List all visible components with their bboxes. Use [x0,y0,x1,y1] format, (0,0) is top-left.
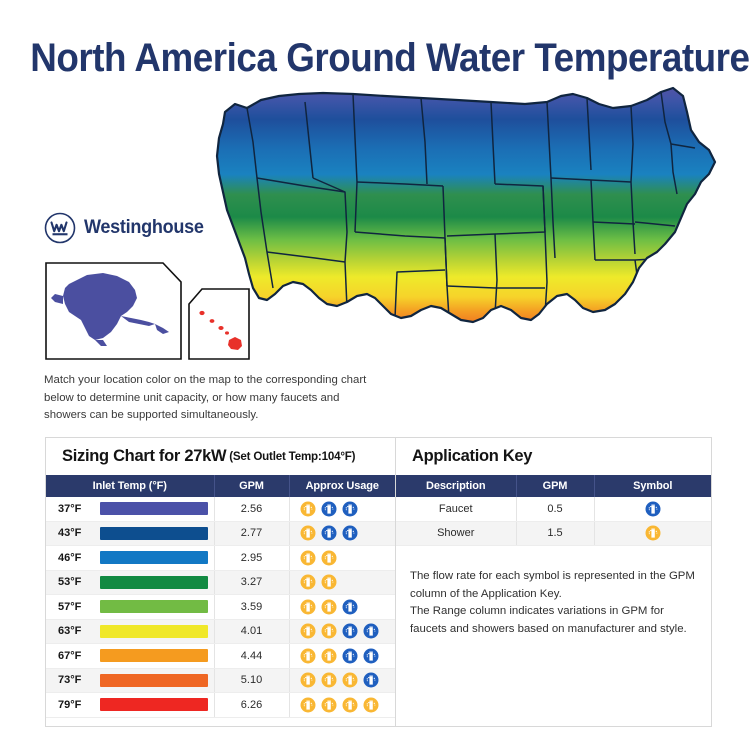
usage-icon-group [290,669,396,693]
shower-icon [321,648,337,664]
inlet-temp-cell: 63°F [46,619,214,644]
key-description-cell: Faucet [396,497,516,521]
table-row: 63°F4.01 [46,619,395,644]
shower-icon [321,623,337,639]
shower-icon [321,697,337,713]
inlet-temp-cell: 53°F [46,570,214,595]
key-description-cell: Shower [396,521,516,546]
usage-icon-group [290,522,396,546]
faucet-icon [342,599,358,615]
temperature-color-swatch [100,674,208,687]
inlet-temp-label: 37°F [58,503,90,515]
shower-icon [321,599,337,615]
temperature-color-swatch [100,576,208,589]
temperature-color-swatch [100,551,208,564]
application-key-table: Description GPM Symbol Faucet0.5Shower1.… [396,475,711,546]
table-row: 67°F4.44 [46,644,395,669]
temperature-color-swatch [100,527,208,540]
application-key-title: Application Key [396,438,711,475]
table-row: 79°F6.26 [46,693,395,718]
shower-icon [645,525,661,541]
approx-usage-cell [289,521,395,546]
sizing-chart-panel: Sizing Chart for 27kW (Set Outlet Temp:1… [46,438,396,726]
col-inlet-temp: Inlet Temp (°F) [46,475,214,497]
shower-icon [300,574,316,590]
gpm-cell: 4.01 [214,619,289,644]
map-instructions: Match your location color on the map to … [44,372,374,425]
inlet-temp-cell: 73°F [46,668,214,693]
table-row: 46°F2.95 [46,546,395,571]
gpm-cell: 5.10 [214,668,289,693]
infographic-page: North America Ground Water Temperature M… [0,0,755,755]
bottom-panels: Sizing Chart for 27kW (Set Outlet Temp:1… [45,437,712,727]
application-key-note: The flow rate for each symbol is represe… [396,546,711,638]
gpm-cell: 3.59 [214,595,289,620]
note-line: The Range column indicates variations in… [410,603,697,638]
table-row: 53°F3.27 [46,570,395,595]
approx-usage-cell [289,546,395,571]
note-line: The flow rate for each symbol is represe… [410,568,697,603]
application-key-body: Faucet0.5Shower1.5 [396,497,711,546]
temperature-color-swatch [100,649,208,662]
col-gpm: GPM [214,475,289,497]
usage-icon-group [290,497,396,521]
shower-icon [363,697,379,713]
hawaii-inset [188,288,250,360]
col-key-gpm: GPM [516,475,594,497]
table-row: 57°F3.59 [46,595,395,620]
sizing-chart-title-main: Sizing Chart for 27kW [62,447,226,466]
inlet-temp-label: 67°F [58,650,90,662]
inlet-temp-label: 63°F [58,625,90,637]
inlet-temp-label: 46°F [58,552,90,564]
table-row: 73°F5.10 [46,668,395,693]
inlet-temp-cell: 43°F [46,521,214,546]
faucet-icon [342,648,358,664]
shower-icon [300,550,316,566]
shower-icon [321,550,337,566]
inlet-temp-cell: 57°F [46,595,214,620]
approx-usage-cell [289,595,395,620]
faucet-icon [342,623,358,639]
shower-icon [300,599,316,615]
us-temperature-map [195,82,740,397]
usage-icon-group [290,620,396,644]
approx-usage-cell [289,644,395,669]
approx-usage-cell [289,497,395,521]
inlet-temp-label: 73°F [58,674,90,686]
sizing-chart-header-row: Inlet Temp (°F) GPM Approx Usage [46,475,395,497]
inlet-temp-label: 43°F [58,527,90,539]
faucet-icon [342,525,358,541]
temperature-color-swatch [100,502,208,515]
faucet-icon [363,648,379,664]
key-gpm-cell: 1.5 [516,521,594,546]
shower-icon [300,648,316,664]
temperature-color-swatch [100,600,208,613]
usage-icon-group [290,571,396,595]
approx-usage-cell [289,570,395,595]
table-row: 43°F2.77 [46,521,395,546]
gpm-cell: 2.56 [214,497,289,521]
inlet-temp-cell: 37°F [46,497,214,521]
gpm-cell: 4.44 [214,644,289,669]
gpm-cell: 2.95 [214,546,289,571]
usage-icon-group [290,644,396,668]
faucet-icon [363,623,379,639]
shower-icon [300,672,316,688]
alaska-inset [45,262,182,360]
usage-icon-group [290,595,396,619]
faucet-icon [645,501,661,517]
key-gpm-cell: 0.5 [516,497,594,521]
inlet-temp-cell: 79°F [46,693,214,718]
faucet-icon [363,672,379,688]
approx-usage-cell [289,668,395,693]
shower-icon [300,525,316,541]
table-row: Shower1.5 [396,521,711,546]
key-symbol-wrapper [595,497,712,521]
shower-icon [300,501,316,517]
brand-name: Westinghouse [84,217,204,239]
faucet-icon [342,501,358,517]
temperature-color-swatch [100,698,208,711]
inlet-temp-label: 53°F [58,576,90,588]
sizing-chart-body: 37°F2.5643°F2.7746°F2.9553°F3.2757°F3.59… [46,497,395,717]
gpm-cell: 2.77 [214,521,289,546]
col-symbol: Symbol [594,475,711,497]
inlet-temp-label: 79°F [58,699,90,711]
shower-icon [321,574,337,590]
shower-icon [300,623,316,639]
col-approx-usage: Approx Usage [289,475,395,497]
usage-icon-group [290,546,396,570]
sizing-chart-table: Inlet Temp (°F) GPM Approx Usage 37°F2.5… [46,475,395,718]
westinghouse-logo: Westinghouse [44,212,210,244]
inlet-temp-cell: 67°F [46,644,214,669]
key-symbol-cell [594,521,711,546]
shower-icon [342,672,358,688]
faucet-icon [321,501,337,517]
inlet-temp-cell: 46°F [46,546,214,571]
approx-usage-cell [289,619,395,644]
shower-icon [300,697,316,713]
application-key-title-text: Application Key [412,447,532,466]
page-title: North America Ground Water Temperature M… [30,36,725,81]
usage-icon-group [290,693,396,717]
col-description: Description [396,475,516,497]
temperature-color-swatch [100,625,208,638]
key-symbol-wrapper [595,522,712,546]
application-key-header-row: Description GPM Symbol [396,475,711,497]
key-symbol-cell [594,497,711,521]
shower-icon [321,672,337,688]
approx-usage-cell [289,693,395,718]
inlet-temp-label: 57°F [58,601,90,613]
shower-icon [342,697,358,713]
gpm-cell: 3.27 [214,570,289,595]
westinghouse-w-icon [44,212,76,244]
faucet-icon [321,525,337,541]
gpm-cell: 6.26 [214,693,289,718]
sizing-chart-title: Sizing Chart for 27kW (Set Outlet Temp:1… [46,438,395,475]
table-row: Faucet0.5 [396,497,711,521]
table-row: 37°F2.56 [46,497,395,521]
application-key-panel: Application Key Description GPM Symbol F… [396,438,711,726]
sizing-chart-title-sub: (Set Outlet Temp:104°F) [229,450,355,463]
